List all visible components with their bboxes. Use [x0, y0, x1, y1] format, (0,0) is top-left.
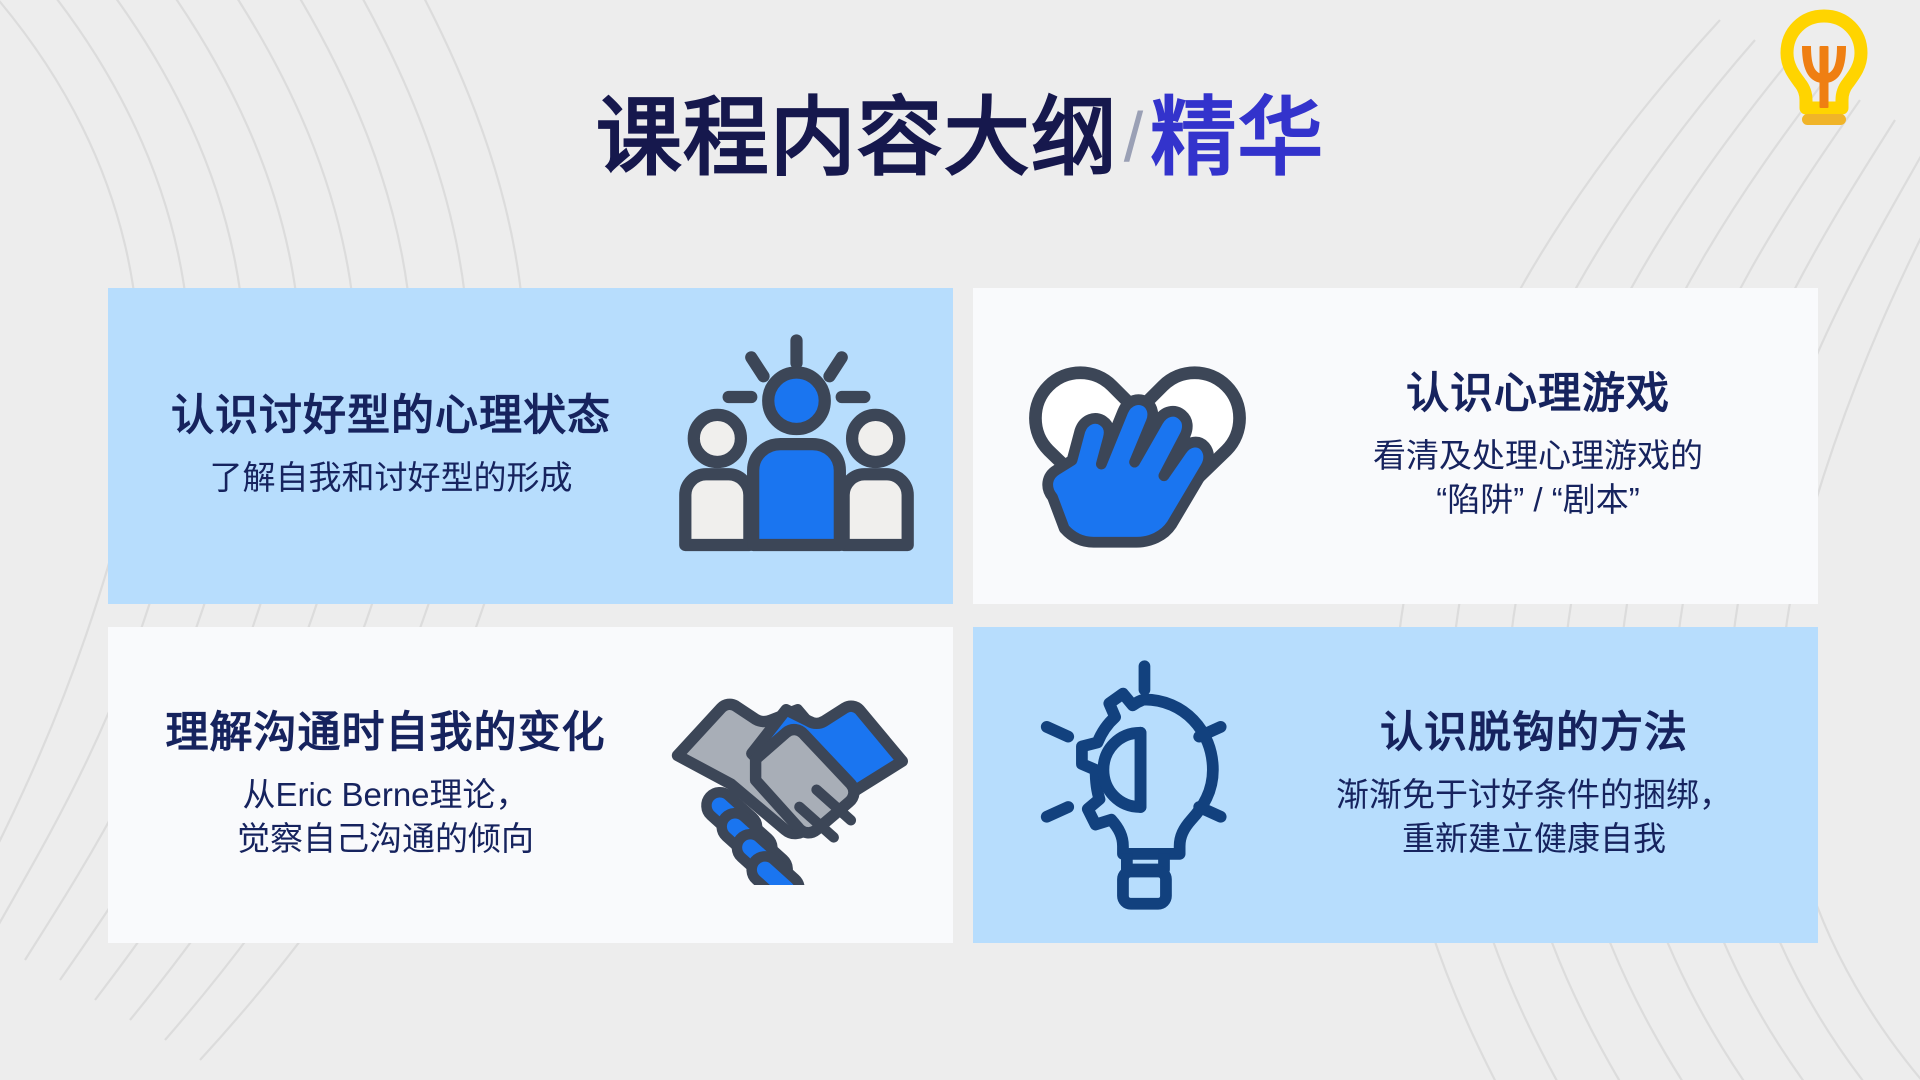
- page-title-wrapper: 课程内容大纲/精华: [0, 95, 1920, 181]
- page-title-accent: 精华: [1150, 90, 1324, 186]
- card-1-subtitle: 了解自我和讨好型的形成: [210, 456, 573, 500]
- card-2-title: 认识心理游戏: [1406, 370, 1670, 419]
- cards-grid: 认识讨好型的心理状态 了解自我和讨好型的形成: [108, 288, 1818, 943]
- card-3-icon-slot: [663, 685, 953, 885]
- card-4-title: 认识脱钩的方法: [1380, 709, 1688, 758]
- card-3-title: 理解沟通时自我的变化: [166, 709, 606, 758]
- people-group-icon: [674, 331, 919, 561]
- card-1-title: 认识讨好型的心理状态: [171, 392, 611, 441]
- card-4-icon-slot: [973, 660, 1250, 910]
- lightbulb-psi-logo: [1776, 8, 1872, 136]
- page-title-separator: /: [1118, 98, 1150, 176]
- card-3-subtitle: 从Eric Berne理论， 觉察自己沟通的倾向: [237, 773, 534, 861]
- card-recognize-decoupling-method[interactable]: 认识脱钩的方法 渐渐免于讨好条件的捆绑， 重新建立健康自我: [973, 627, 1818, 943]
- card-1-text: 认识讨好型的心理状态 了解自我和讨好型的形成: [108, 392, 674, 499]
- card-recognize-mind-games[interactable]: 认识心理游戏 看清及处理心理游戏的 “陷阱” / “剧本”: [973, 288, 1818, 604]
- handshake-icon: [663, 685, 913, 885]
- heart-hand-icon: [1025, 341, 1250, 551]
- card-3-text: 理解沟通时自我的变化 从Eric Berne理论， 觉察自己沟通的倾向: [108, 709, 663, 860]
- card-recognize-pleaser-state[interactable]: 认识讨好型的心理状态 了解自我和讨好型的形成: [108, 288, 953, 604]
- lightbulb-gear-icon: [1035, 660, 1250, 910]
- card-2-subtitle: 看清及处理心理游戏的 “陷阱” / “剧本”: [1373, 434, 1703, 522]
- card-1-icon-slot: [674, 331, 953, 561]
- card-4-subtitle: 渐渐免于讨好条件的捆绑， 重新建立健康自我: [1336, 773, 1732, 861]
- card-2-icon-slot: [973, 341, 1258, 551]
- card-understand-ego-shift[interactable]: 理解沟通时自我的变化 从Eric Berne理论， 觉察自己沟通的倾向: [108, 627, 953, 943]
- card-2-text: 认识心理游戏 看清及处理心理游戏的 “陷阱” / “剧本”: [1258, 370, 1818, 521]
- page-title-main: 课程内容大纲: [596, 90, 1118, 186]
- page-title: 课程内容大纲/精华: [596, 95, 1324, 181]
- slide-root: 课程内容大纲/精华 认识讨好型的心理状态 了解自我和讨好型的形成: [0, 0, 1920, 1080]
- card-4-text: 认识脱钩的方法 渐渐免于讨好条件的捆绑， 重新建立健康自我: [1250, 709, 1818, 860]
